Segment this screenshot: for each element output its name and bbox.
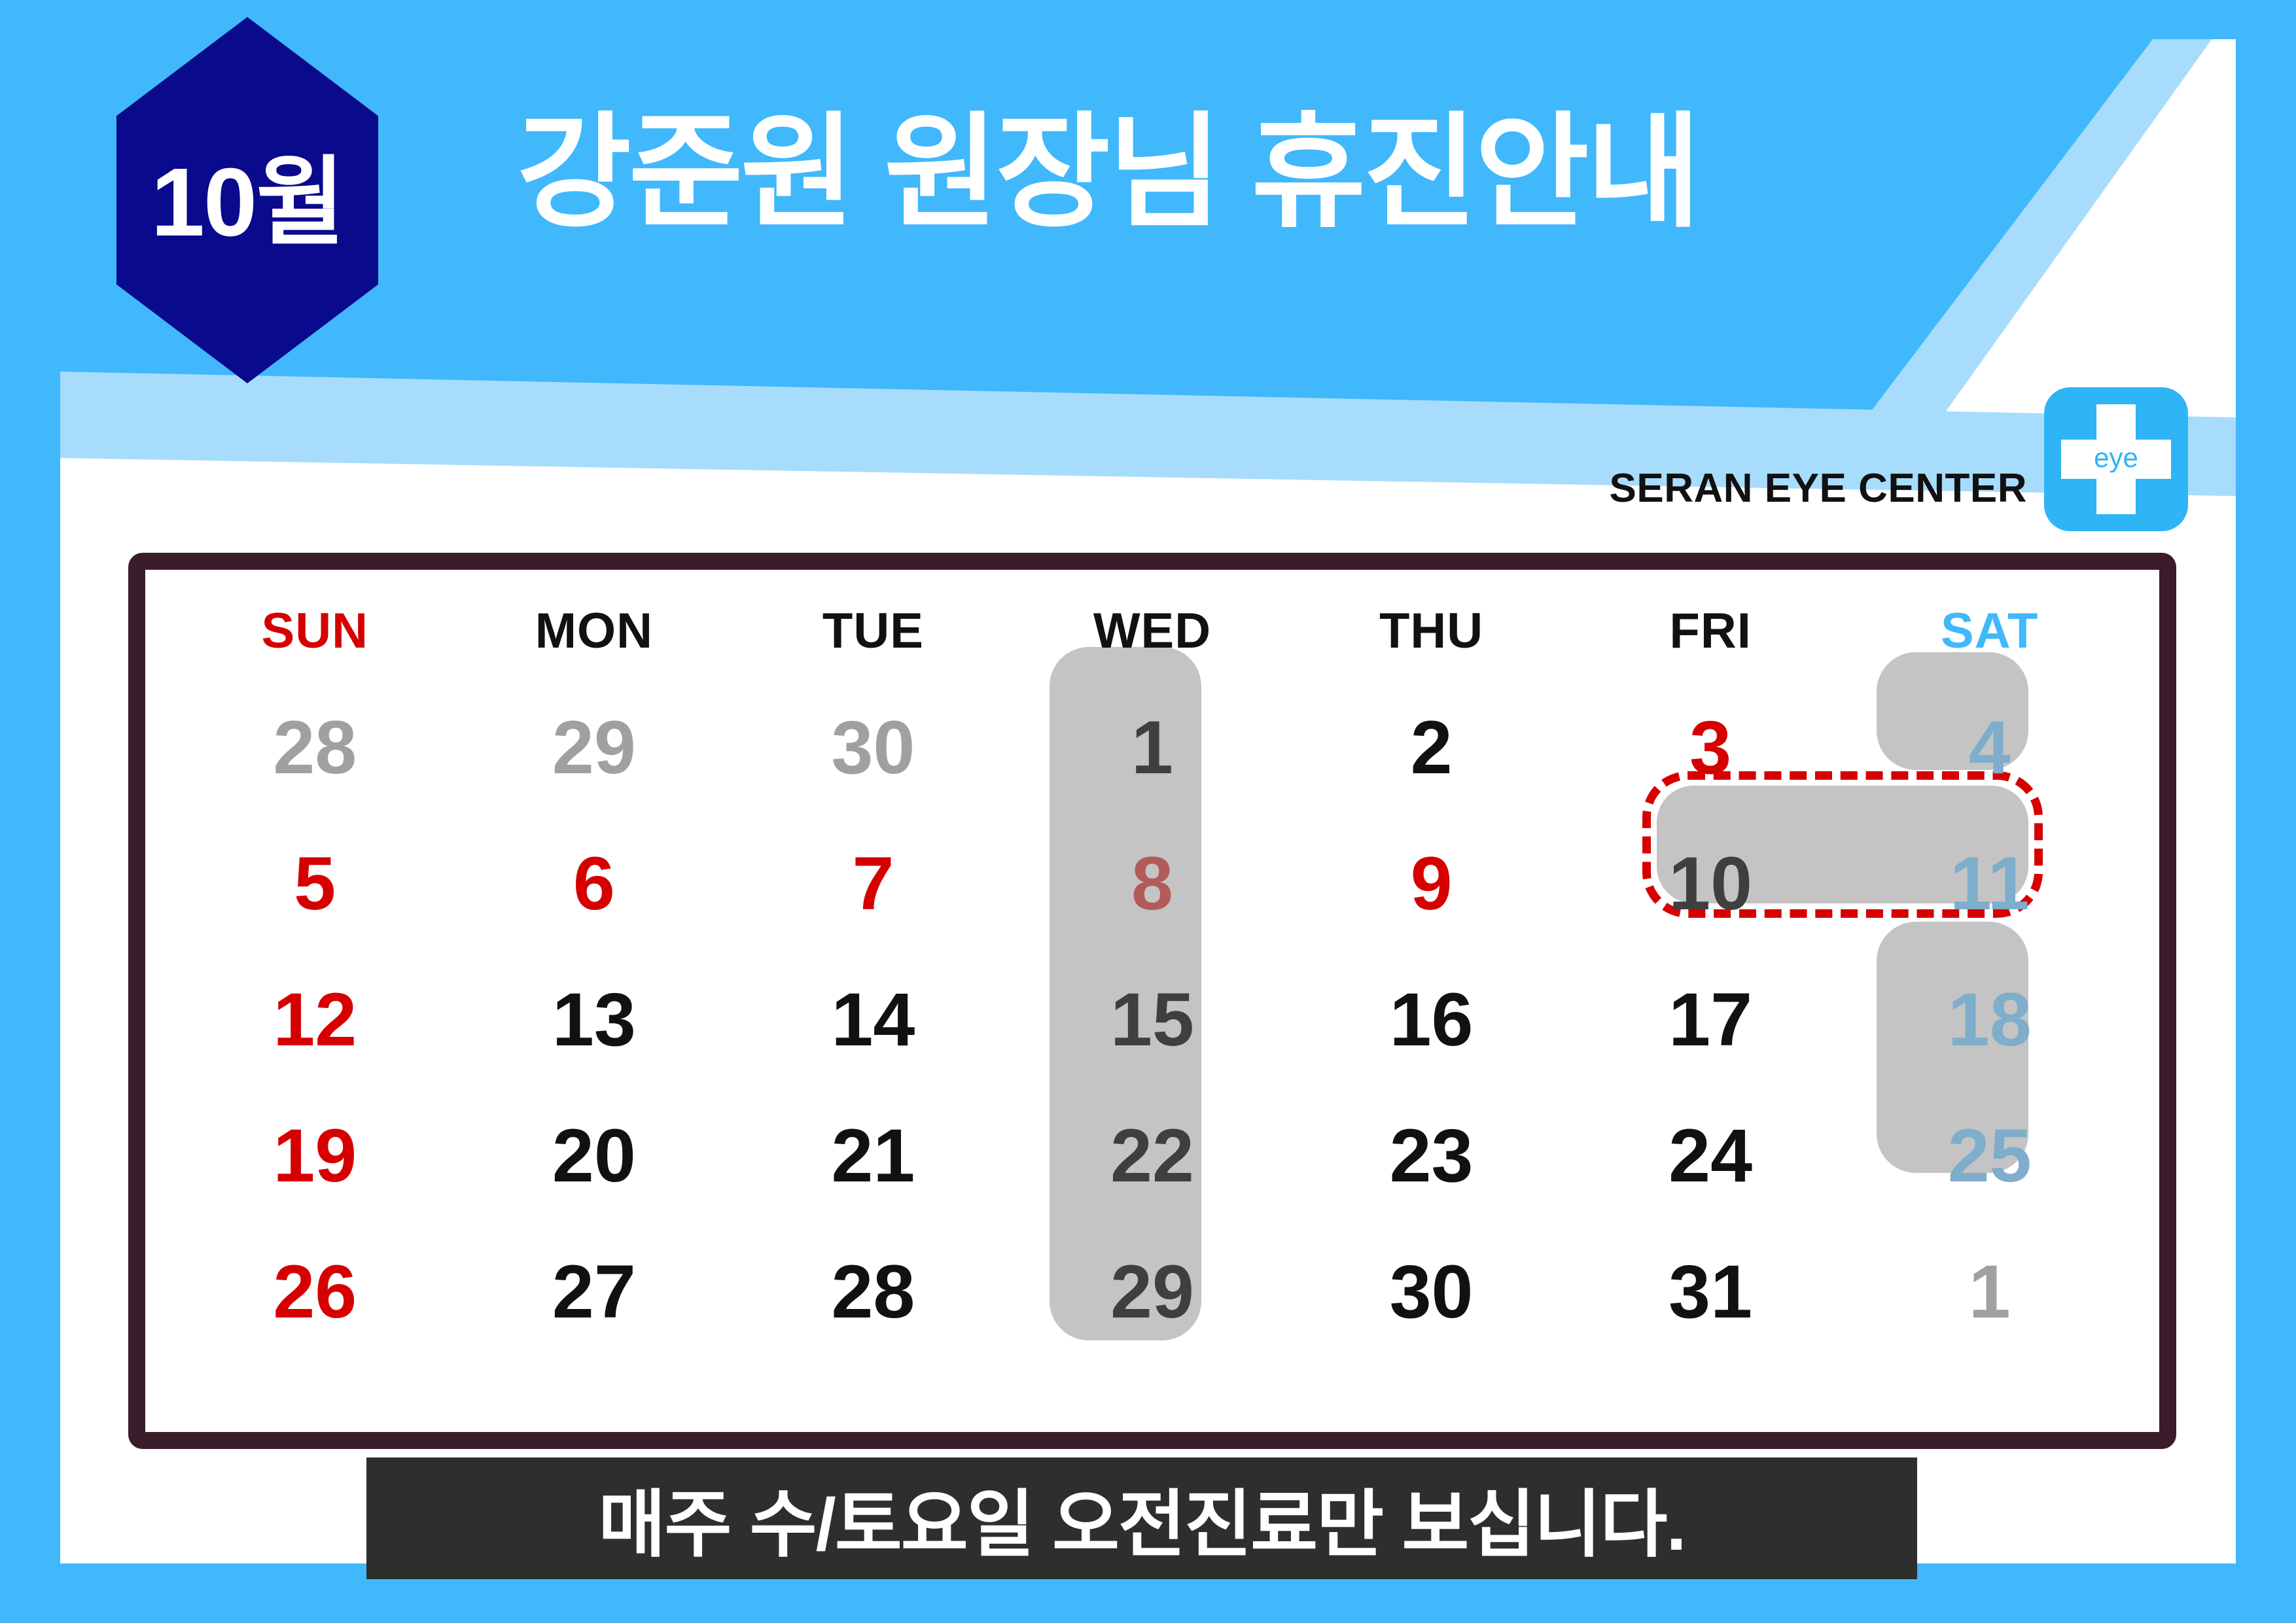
brand-name: SERAN EYE CENTER xyxy=(1610,465,2027,512)
day-header-thu: THU xyxy=(1292,582,1571,680)
calendar-day-cell: 11 xyxy=(1850,816,2129,952)
calendar-day-cell: 16 xyxy=(1292,952,1571,1088)
calendar-day-cell: 30 xyxy=(733,680,1013,816)
calendar-day-cell: 18 xyxy=(1850,952,2129,1088)
calendar-day-cell: 1 xyxy=(1013,680,1292,816)
day-header-tue: TUE xyxy=(733,582,1013,680)
calendar-day-cell: 6 xyxy=(455,816,734,952)
notice-banner: 매주 수/토요일 오전진료만 보십니다. xyxy=(366,1457,1917,1579)
day-header-mon: MON xyxy=(455,582,734,680)
calendar-day-cell: 28 xyxy=(175,680,455,816)
calendar-day-cell: 7 xyxy=(733,816,1013,952)
day-header-sun: SUN xyxy=(175,582,455,680)
medical-cross-icon: eye xyxy=(2044,387,2188,531)
calendar-day-cell: 27 xyxy=(455,1224,734,1360)
calendar-day-cell: 8 xyxy=(1013,816,1292,952)
calendar-day-cell: 15 xyxy=(1013,952,1292,1088)
calendar-card: SUNMONTUEWEDTHUFRISAT2829301234567891011… xyxy=(128,553,2176,1449)
calendar-day-cell: 22 xyxy=(1013,1088,1292,1224)
calendar-day-cell: 31 xyxy=(1571,1224,1850,1360)
calendar-day-cell: 29 xyxy=(1013,1224,1292,1360)
calendar-day-cell: 13 xyxy=(455,952,734,1088)
poster-header: 10월 강준원 원장님 휴진안내 xyxy=(0,0,2296,393)
page-title: 강준원 원장님 휴진안내 xyxy=(517,105,1699,241)
calendar-day-cell: 9 xyxy=(1292,816,1571,952)
calendar-day-cell: 21 xyxy=(733,1088,1013,1224)
day-header-sat: SAT xyxy=(1850,582,2129,680)
calendar-day-cell: 20 xyxy=(455,1088,734,1224)
calendar-day-cell: 2 xyxy=(1292,680,1571,816)
calendar-day-cell: 4 xyxy=(1850,680,2129,816)
day-header-fri: FRI xyxy=(1571,582,1850,680)
brand-lockup: SERAN EYE CENTER eye xyxy=(1610,387,2188,531)
day-header-wed: WED xyxy=(1013,582,1292,680)
calendar-day-cell: 28 xyxy=(733,1224,1013,1360)
calendar-grid: SUNMONTUEWEDTHUFRISAT2829301234567891011… xyxy=(145,570,2159,1432)
calendar-day-cell: 17 xyxy=(1571,952,1850,1088)
poster-root: 10월 강준원 원장님 휴진안내 SERAN EYE CENTER eye xyxy=(0,0,2296,1623)
calendar-day-cell: 5 xyxy=(175,816,455,952)
calendar-day-cell: 25 xyxy=(1850,1088,2129,1224)
calendar-day-cell: 1 xyxy=(1850,1224,2129,1360)
calendar-day-cell: 24 xyxy=(1571,1088,1850,1224)
calendar-day-cell: 14 xyxy=(733,952,1013,1088)
calendar-day-cell: 12 xyxy=(175,952,455,1088)
calendar-day-cell: 19 xyxy=(175,1088,455,1224)
calendar-day-cell: 26 xyxy=(175,1224,455,1360)
calendar-day-cell: 30 xyxy=(1292,1224,1571,1360)
notice-text: 매주 수/토요일 오전진료만 보십니다. xyxy=(598,1465,1685,1571)
calendar-day-cell: 23 xyxy=(1292,1088,1571,1224)
svg-text:eye: eye xyxy=(2094,442,2138,473)
calendar-day-cell: 3 xyxy=(1571,680,1850,816)
calendar-day-cell: 29 xyxy=(455,680,734,816)
month-badge: 10월 xyxy=(116,17,378,383)
calendar-day-cell: 10 xyxy=(1571,816,1850,952)
month-badge-label: 10월 xyxy=(151,154,344,251)
